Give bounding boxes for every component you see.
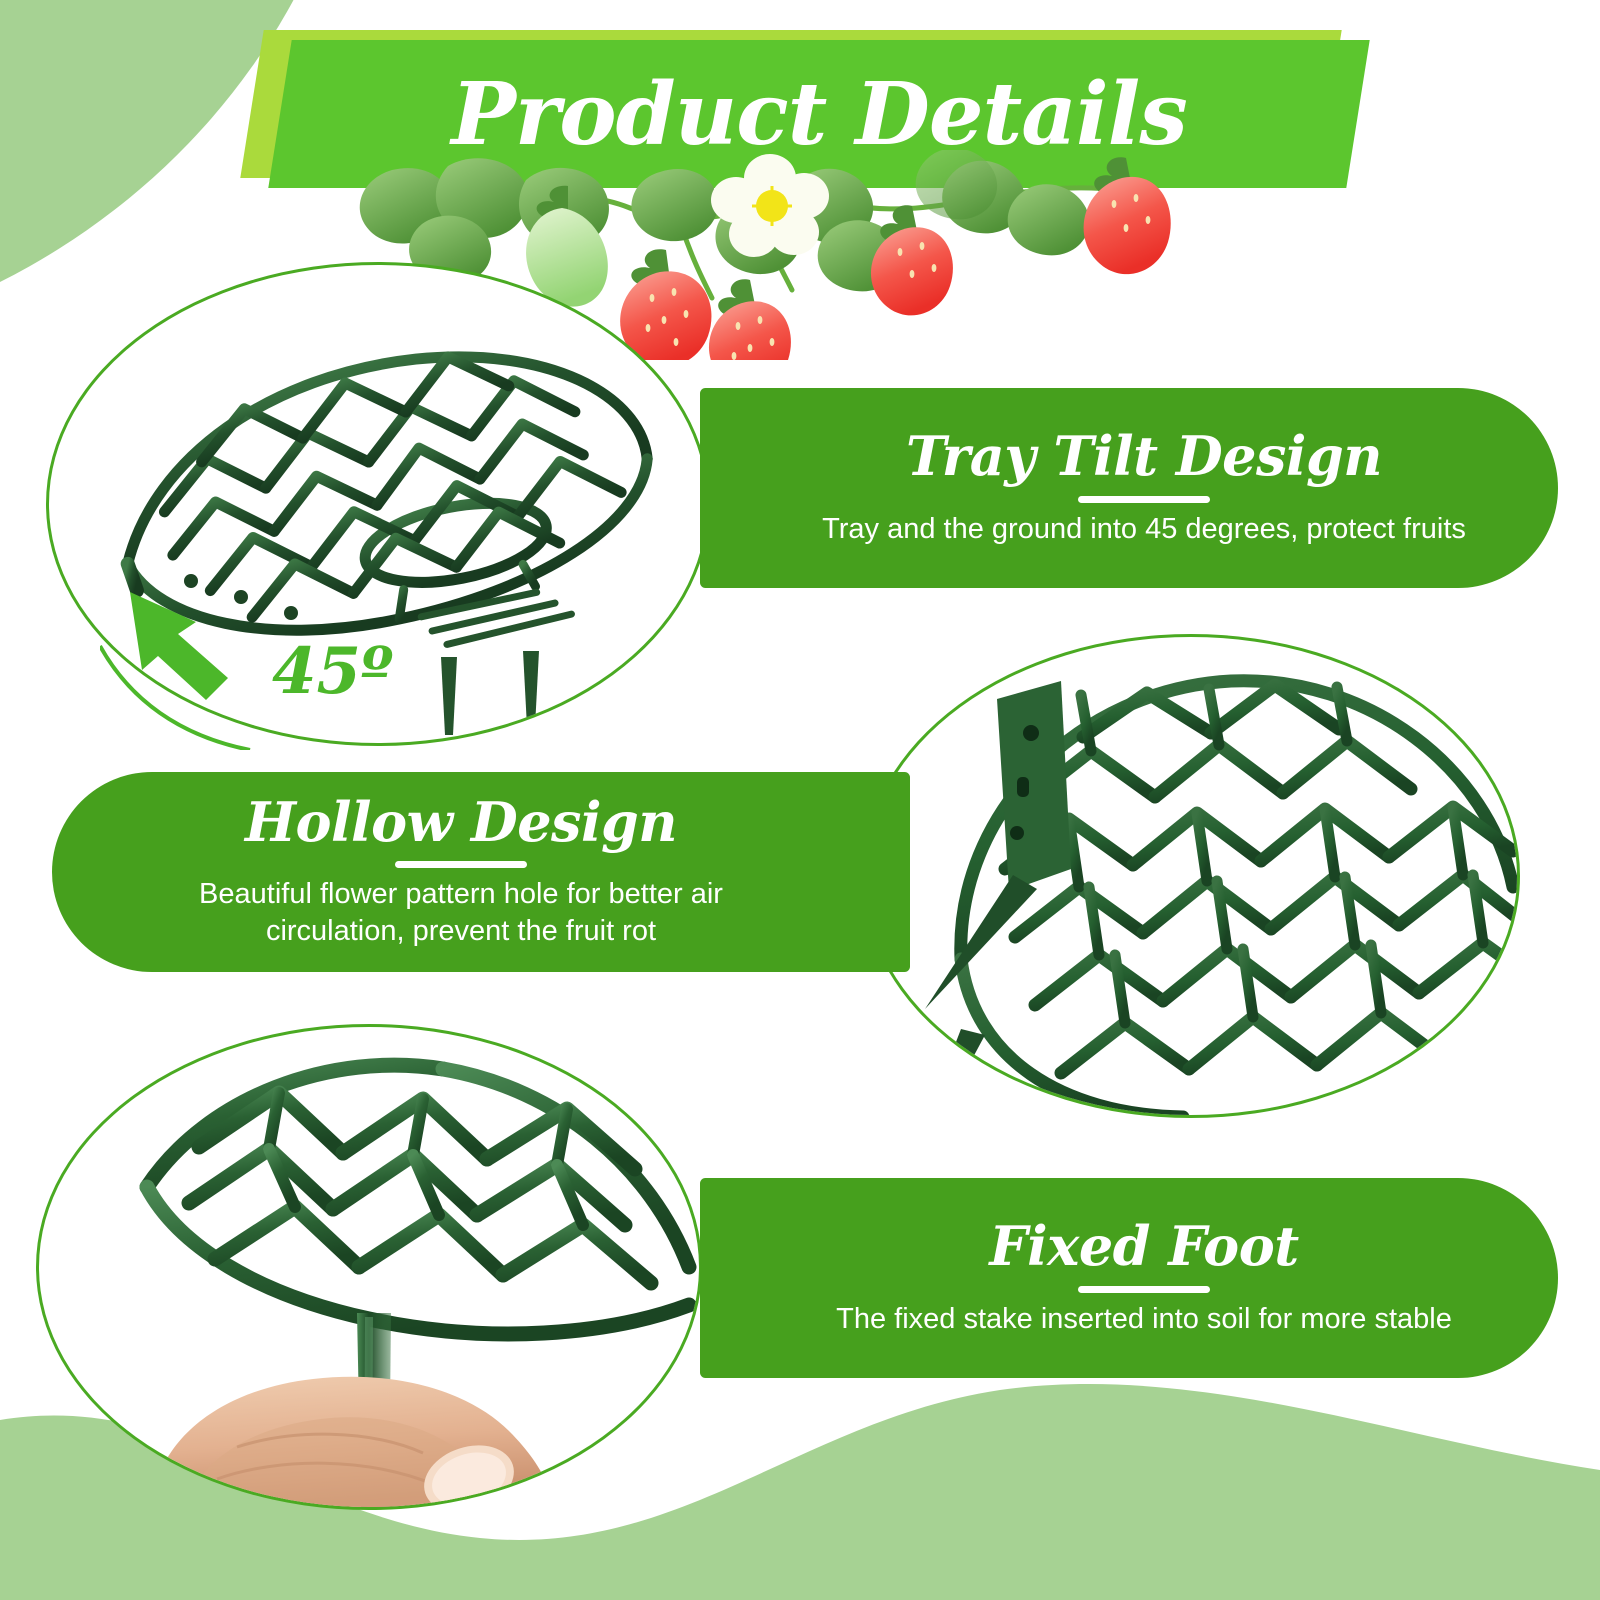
product-photo-hollow-design [862,634,1520,1118]
feature-panel-fixed-foot: Fixed Foot The fixed stake inserted into… [700,1178,1558,1378]
angle-label: 45º [272,640,393,704]
title-underline [1078,496,1210,503]
feature-description: The fixed stake inserted into soil for m… [836,1301,1452,1338]
feature-title: Fixed Foot [989,1218,1298,1275]
page-title: Product Details [280,40,1358,188]
feature-description: Tray and the ground into 45 degrees, pro… [822,511,1466,548]
title-underline [1078,1286,1210,1293]
feature-description: Beautiful flower pattern hole for better… [132,876,790,950]
feature-title: Hollow Design [245,794,677,851]
feature-title: Tray Tilt Design [906,428,1382,485]
title-underline [395,861,527,868]
strawberry-ripe-3 [871,205,953,315]
feature-panel-hollow-design: Hollow Design Beautiful flower pattern h… [52,772,910,972]
strawberry-unripe [526,186,608,307]
strawberry-ripe-1 [620,249,711,360]
title-banner: Product Details [252,30,1360,188]
product-details-infographic: Product Details [0,0,1600,1600]
feature-panel-tray-tilt-design: Tray Tilt Design Tray and the ground int… [700,388,1558,588]
product-photo-fixed-foot [36,1024,702,1510]
strawberry-ripe-2 [709,279,791,360]
